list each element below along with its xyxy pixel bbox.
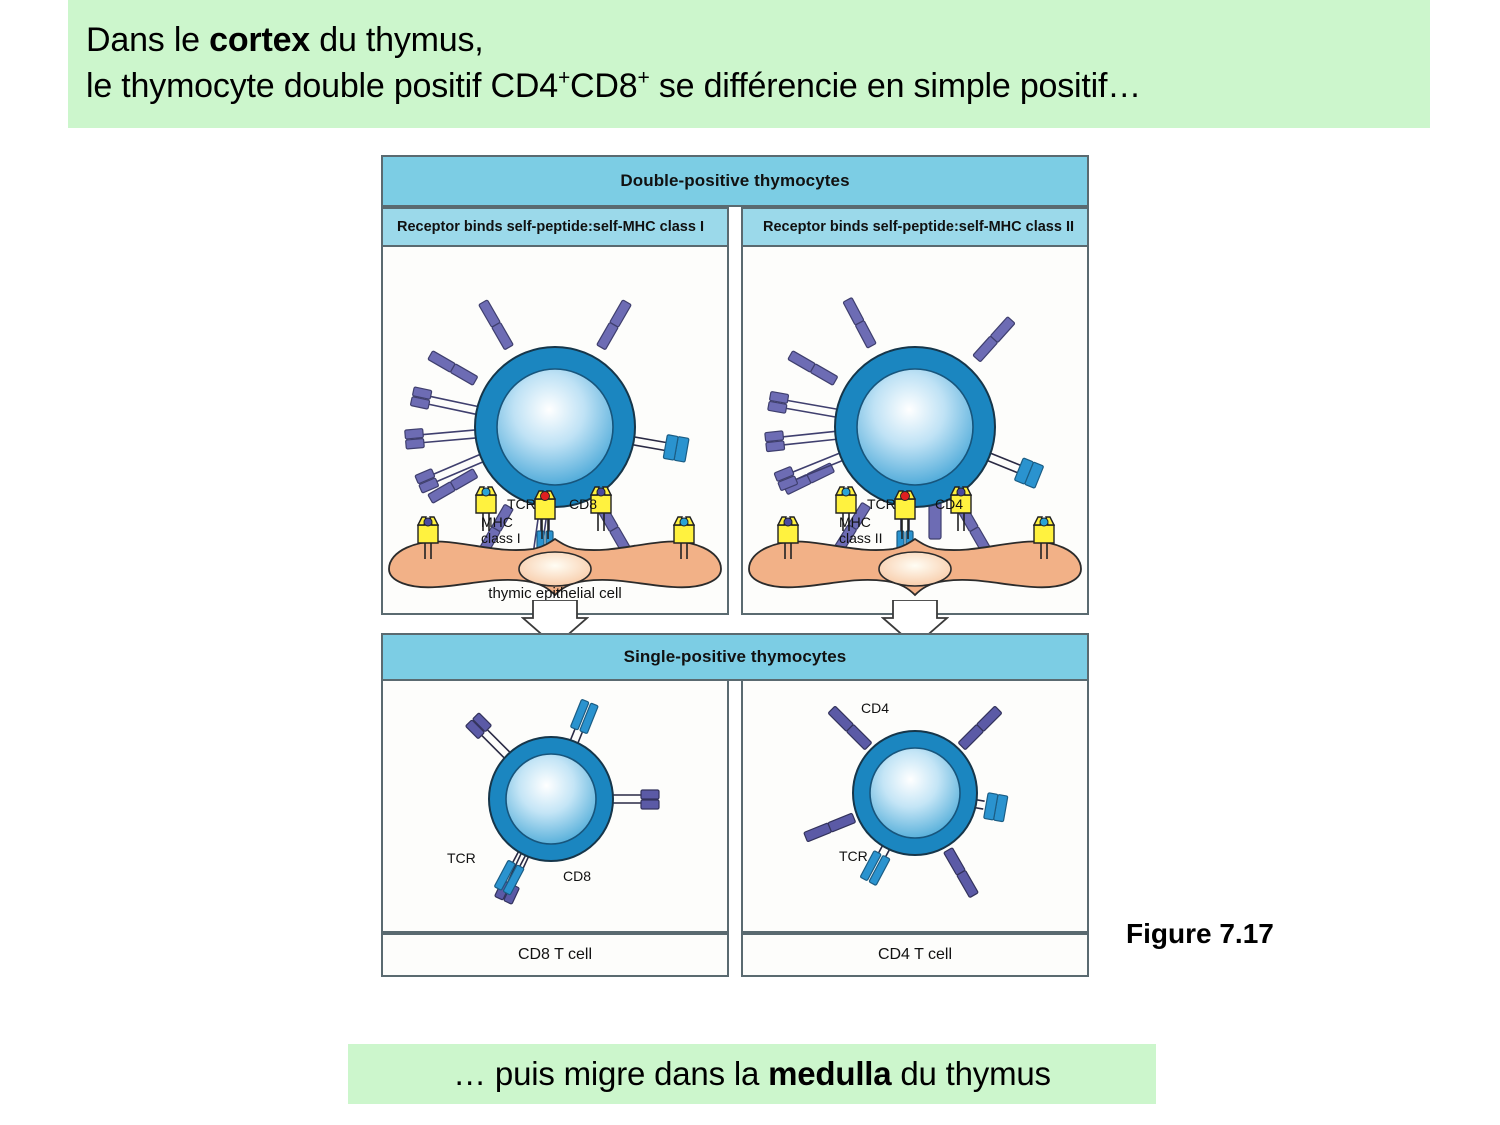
label-tcr-cd8-cell: TCR	[447, 851, 476, 866]
title-line-2-a: le thymocyte double positif CD4	[86, 67, 558, 105]
cd4-t-cell-body: CD4 TCR	[741, 681, 1089, 933]
footer-line: … puis migre dans la medulla du thymus	[453, 1052, 1051, 1097]
column-mhc-class-i-header: Receptor binds self-peptide:self-MHC cla…	[381, 207, 729, 247]
column-mhc-class-ii: Receptor binds self-peptide:self-MHC cla…	[741, 207, 1089, 615]
label-cd4-class-ii: CD4	[935, 497, 963, 512]
slide-canvas: Dans le cortex du thymus, le thymocyte d…	[0, 0, 1500, 1125]
diagram-dp-thymocyte-class-ii	[743, 247, 1087, 611]
title-line-1: Dans le cortex du thymus,	[86, 18, 1430, 64]
single-positive-header-band: Single-positive thymocytes	[381, 633, 1089, 681]
label-tcr-class-i: TCR	[507, 497, 536, 512]
title-line-2-c: se différencie en simple positif…	[650, 67, 1141, 105]
label-tcr-cd4-cell: TCR	[839, 849, 868, 864]
column-mhc-class-i: Receptor binds self-peptide:self-MHC cla…	[381, 207, 729, 615]
footer-suffix: du thymus	[891, 1055, 1050, 1092]
single-positive-header-text: Single-positive thymocytes	[624, 647, 847, 667]
double-positive-header-band: Double-positive thymocytes	[381, 155, 1089, 207]
slide-footer-banner: … puis migre dans la medulla du thymus	[348, 1044, 1156, 1104]
cd4-cell-nucleus	[870, 748, 960, 838]
diagram-cd8-t-cell	[383, 681, 727, 929]
title-line-2-b: CD8	[570, 67, 637, 105]
footer-keyword-medulla: medulla	[768, 1055, 891, 1092]
label-cd8-cd8-cell: CD8	[563, 869, 591, 884]
figure-number-label: Figure 7.17	[1126, 918, 1274, 950]
double-positive-section: Double-positive thymocytes Receptor bind…	[381, 155, 1089, 615]
cd8-receptors-class-ii	[765, 391, 846, 490]
column-mhc-class-ii-header: Receptor binds self-peptide:self-MHC cla…	[741, 207, 1089, 247]
thymocyte-nucleus-class-ii	[857, 369, 973, 485]
title-line-1-prefix: Dans le	[86, 21, 209, 59]
column-mhc-class-ii-body: TCR CD4 MHC class II	[741, 247, 1089, 615]
footer-prefix: … puis migre dans la	[453, 1055, 768, 1092]
label-tcr-class-ii: TCR	[867, 497, 896, 512]
label-cd8-class-i: CD8	[569, 497, 597, 512]
label-mhc-class-i-line2: class I	[481, 531, 521, 546]
title-line-1-suffix: du thymus,	[310, 21, 484, 59]
column-cd8-t-cell: TCR CD8 CD8 T cell	[381, 681, 729, 977]
column-mhc-class-i-header-text: Receptor binds self-peptide:self-MHC cla…	[397, 219, 704, 235]
column-mhc-class-i-body: TCR CD8 MHC class I thymic epithelial ce…	[381, 247, 729, 615]
cd8-t-cell-body: TCR CD8	[381, 681, 729, 933]
cd8-t-cell-footer: CD8 T cell	[381, 933, 729, 977]
column-cd4-t-cell: CD4 TCR CD4 T cell	[741, 681, 1089, 977]
slide-title-banner: Dans le cortex du thymus, le thymocyte d…	[68, 0, 1430, 128]
cd8-plus-superscript: +	[637, 67, 649, 90]
diagram-cd4-t-cell	[743, 681, 1087, 929]
cd4-t-cell-footer: CD4 T cell	[741, 933, 1089, 977]
cd4-t-cell-footer-text: CD4 T cell	[878, 946, 952, 964]
title-line-2: le thymocyte double positif CD4+CD8+ se …	[86, 64, 1430, 110]
label-mhc-class-ii-line1: MHC	[839, 515, 871, 530]
thymocyte-nucleus-class-i	[497, 369, 613, 485]
label-mhc-class-i-line1: MHC	[481, 515, 513, 530]
title-keyword-cortex: cortex	[209, 21, 310, 59]
double-positive-header-text: Double-positive thymocytes	[620, 171, 849, 191]
cd4-plus-superscript: +	[558, 67, 570, 90]
label-cd4-cd4-cell: CD4	[861, 701, 889, 716]
label-mhc-class-ii-line2: class II	[839, 531, 883, 546]
diagram-dp-thymocyte-class-i	[383, 247, 727, 611]
thymic-epithelial-cell-class-ii	[749, 539, 1081, 595]
column-mhc-class-ii-header-text: Receptor binds self-peptide:self-MHC cla…	[763, 219, 1074, 235]
cd8-cell-nucleus	[506, 754, 596, 844]
figure-7-17: Double-positive thymocytes Receptor bind…	[381, 155, 1089, 977]
cd8-t-cell-footer-text: CD8 T cell	[518, 946, 592, 964]
